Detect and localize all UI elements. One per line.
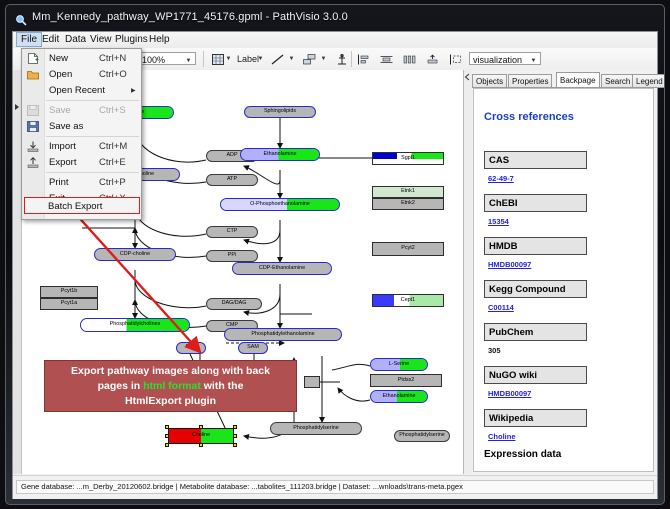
node-label: Phosphatidylcholines bbox=[110, 322, 161, 327]
xref-header-kegg: Kegg Compound bbox=[484, 280, 587, 298]
side-panel: Objects Properties Backpage Search Legen… bbox=[464, 70, 657, 474]
protein-pcyt1b[interactable]: Pcyt1b bbox=[40, 286, 98, 298]
menu-item-label: Import bbox=[49, 141, 76, 152]
node-sam[interactable]: SAM bbox=[238, 342, 268, 354]
node-label: Choline bbox=[192, 433, 210, 438]
node-ethanolamine-bottom[interactable]: Ethanolamine bbox=[370, 390, 428, 403]
line-dropdown-caret[interactable]: ▼ bbox=[288, 56, 295, 62]
shape-dropdown-caret[interactable]: ▼ bbox=[320, 56, 327, 62]
resize-handle-se[interactable] bbox=[233, 443, 237, 447]
node-sphingolipids[interactable]: Sphingolipids bbox=[244, 106, 316, 118]
annotation-callout: Export pathway images along with back pa… bbox=[44, 360, 297, 412]
menu-item-accelerator: Ctrl+E bbox=[99, 157, 126, 168]
xref-header-cas: CAS bbox=[484, 151, 587, 169]
tab-objects[interactable]: Objects bbox=[472, 74, 507, 88]
open-folder-icon bbox=[27, 69, 39, 80]
backpage-title: Cross references bbox=[484, 111, 574, 123]
protein-pcyt2[interactable]: Pcyt2 bbox=[372, 242, 444, 256]
menu-item-save-as[interactable]: Save as bbox=[23, 119, 141, 134]
visualization-value: visualization bbox=[473, 55, 522, 65]
xref-link-cas[interactable]: 62-49-7 bbox=[488, 174, 514, 183]
node-phosphatidylcholines[interactable]: Phosphatidylcholines bbox=[80, 318, 190, 332]
visualization-combo[interactable]: visualization ▼ bbox=[469, 52, 541, 65]
tab-legend[interactable]: Legend bbox=[632, 74, 665, 88]
node-cdp-choline[interactable]: CDP-choline bbox=[94, 248, 176, 261]
label-dropdown-caret[interactable]: ▼ bbox=[257, 56, 264, 62]
xref-header-wikipedia: Wikipedia bbox=[484, 409, 587, 427]
align-left-icon[interactable] bbox=[355, 51, 372, 67]
node-ctp[interactable]: CTP bbox=[206, 226, 258, 238]
menu-item-label: New bbox=[49, 53, 68, 64]
menu-item-print[interactable]: Print Ctrl+P bbox=[23, 175, 141, 190]
menu-item-label: Export bbox=[49, 157, 76, 168]
window-frame: Mm_Kennedy_pathway_WP1771_45176.gpml - P… bbox=[5, 4, 665, 505]
resize-handle-e[interactable] bbox=[233, 434, 237, 438]
tab-search[interactable]: Search bbox=[601, 74, 634, 88]
protein-ptdss2[interactable]: Ptdss2 bbox=[370, 374, 442, 387]
resize-handle-w[interactable] bbox=[165, 434, 169, 438]
menu-item-label: Open bbox=[49, 69, 72, 80]
expression-data-heading: Expression data bbox=[484, 449, 561, 460]
application-window: Mm_Kennedy_pathway_WP1771_45176.gpml - P… bbox=[0, 0, 670, 509]
menu-item-new[interactable]: New Ctrl+N bbox=[23, 51, 141, 66]
anchor-icon[interactable] bbox=[333, 51, 350, 67]
node-dag[interactable]: DAG/DAG bbox=[206, 298, 262, 310]
menu-item-open[interactable]: Open Ctrl+O bbox=[23, 67, 141, 82]
xref-link-nugo[interactable]: HMDB00097 bbox=[488, 389, 531, 398]
resize-handle-n[interactable] bbox=[199, 425, 203, 429]
xref-value-pubchem: 305 bbox=[488, 346, 501, 355]
xref-link-chebi[interactable]: 15354 bbox=[488, 217, 509, 226]
backpage-panel[interactable]: Cross references CAS 62-49-7 ChEBI 15354… bbox=[473, 88, 654, 472]
import-icon bbox=[27, 141, 39, 152]
node-cdp-ethanolamine[interactable]: CDP-Ethanolamine bbox=[232, 262, 332, 275]
menu-item-accelerator: Ctrl+P bbox=[99, 177, 126, 188]
menu-item-accelerator: Ctrl+O bbox=[99, 69, 127, 80]
node-label: Ethanolamine bbox=[264, 152, 297, 157]
toolbar-separator bbox=[351, 51, 352, 67]
menu-help[interactable]: Help bbox=[145, 33, 174, 47]
status-text: Gene database: ...m_Derby_20120602.bridg… bbox=[16, 480, 654, 494]
node-phosphatidylserine-right[interactable]: Phosphatidylserine bbox=[394, 430, 450, 442]
node-ppi[interactable]: PPi bbox=[206, 250, 258, 262]
xref-header-pubchem: PubChem bbox=[484, 323, 587, 341]
menu-item-save: Save Ctrl+S bbox=[23, 103, 141, 118]
menu-item-open-recent[interactable]: Open Recent ▶ bbox=[23, 83, 141, 98]
protein-etnk2[interactable]: Etnk2 bbox=[372, 198, 444, 210]
protein-pcyt1a[interactable]: Pcyt1a bbox=[40, 298, 98, 310]
resize-handle-ne[interactable] bbox=[233, 425, 237, 429]
xref-link-kegg[interactable]: C00114 bbox=[488, 303, 514, 312]
selected-node-group[interactable]: Choline bbox=[168, 428, 234, 444]
zoom-value: 100% bbox=[142, 55, 165, 65]
menu-item-label: Open Recent bbox=[49, 85, 105, 96]
window-title: Mm_Kennedy_pathway_WP1771_45176.gpml - P… bbox=[32, 11, 348, 23]
menu-item-export[interactable]: Export Ctrl+E bbox=[23, 155, 141, 170]
xref-header-hmdb: HMDB bbox=[484, 237, 587, 255]
annotation-highlight: html format bbox=[143, 380, 201, 392]
menu-item-batch-export[interactable]: Batch Export bbox=[48, 201, 102, 212]
menu-item-import[interactable]: Import Ctrl+M bbox=[23, 139, 141, 154]
node-label: O-Phosphoethanolamine bbox=[250, 202, 310, 207]
node-atp[interactable]: ATP bbox=[206, 174, 258, 186]
node-choline-selected[interactable]: Choline bbox=[168, 428, 234, 444]
status-bar: Gene database: ...m_Derby_20120602.bridg… bbox=[13, 475, 657, 499]
menu-bar: File Edit Data View Plugins Help bbox=[13, 32, 657, 49]
annotation-line1: Export pathway images along with back bbox=[71, 365, 270, 377]
save-icon bbox=[27, 105, 39, 116]
stack-icon[interactable] bbox=[424, 51, 441, 67]
file-menu-popup[interactable]: New Ctrl+N Open Ctrl+O Open Recent ▶ Sav… bbox=[21, 48, 142, 220]
menu-item-accelerator: Ctrl+N bbox=[99, 53, 126, 64]
node-ethanolamine-top[interactable]: Ethanolamine bbox=[240, 148, 320, 161]
protein-etnk1[interactable]: Etnk1 bbox=[372, 186, 444, 198]
label-button[interactable]: Label bbox=[237, 54, 259, 64]
protein-sgpl1[interactable]: Sgpl1 bbox=[372, 152, 444, 165]
xref-header-nugo: NuGO wiki bbox=[484, 366, 587, 384]
menu-item-label: Print bbox=[49, 177, 69, 188]
client-area: File Edit Data View Plugins Help Zoom: 1… bbox=[12, 31, 658, 499]
xref-link-wikipedia[interactable]: Choline bbox=[488, 432, 516, 441]
node-label: Cept1 bbox=[401, 298, 415, 303]
menu-separator bbox=[46, 136, 139, 137]
menu-separator bbox=[46, 100, 139, 101]
zoom-combo[interactable]: 100% ▼ bbox=[138, 52, 196, 65]
resize-handle-sw[interactable] bbox=[165, 443, 169, 447]
menu-item-label: Save bbox=[49, 105, 71, 116]
tab-backpage[interactable]: Backpage bbox=[556, 72, 600, 88]
save-as-icon bbox=[27, 121, 39, 132]
annotation-line2-post: with the bbox=[201, 380, 244, 392]
line-icon[interactable] bbox=[269, 51, 286, 67]
annotation-line3: HtmlExport plugin bbox=[125, 395, 216, 407]
grid-icon[interactable] bbox=[209, 51, 226, 67]
resize-handle-nw[interactable] bbox=[165, 425, 169, 429]
title-bar: Mm_Kennedy_pathway_WP1771_45176.gpml - P… bbox=[6, 5, 664, 33]
node-phosphatidylserine[interactable]: Phosphatidylserine bbox=[270, 422, 362, 435]
node-label: L-Serine bbox=[389, 362, 409, 367]
chevron-down-icon: ▼ bbox=[529, 57, 538, 65]
node-sah[interactable]: SAH bbox=[176, 342, 206, 354]
tab-properties[interactable]: Properties bbox=[508, 74, 552, 88]
reaction-anchor-box[interactable] bbox=[304, 376, 320, 388]
pathvisio-icon bbox=[15, 13, 27, 25]
node-phosphatidylethanolamine[interactable]: Phosphatidylethanolamine bbox=[224, 328, 342, 341]
node-l-serine[interactable]: L-Serine bbox=[370, 358, 428, 371]
panel-tab-strip: Objects Properties Backpage Search Legen… bbox=[472, 72, 657, 88]
xref-link-hmdb[interactable]: HMDB00097 bbox=[488, 260, 531, 269]
panel-collapse-grip[interactable] bbox=[464, 70, 472, 474]
shape-icon[interactable] bbox=[301, 51, 318, 67]
toolbar-separator bbox=[203, 51, 204, 67]
menu-edit[interactable]: Edit bbox=[38, 33, 63, 47]
xref-header-chebi: ChEBI bbox=[484, 194, 587, 212]
protein-cept1[interactable]: Cept1 bbox=[372, 294, 444, 307]
distribute-icon[interactable] bbox=[401, 51, 418, 67]
grid-dropdown-caret[interactable]: ▼ bbox=[225, 56, 232, 62]
chevron-down-icon: ▼ bbox=[184, 57, 193, 65]
node-label: Sgpl1 bbox=[401, 156, 415, 161]
menu-item-accelerator: Ctrl+S bbox=[99, 105, 126, 116]
align-center-icon[interactable] bbox=[378, 51, 395, 67]
resize-handle-s[interactable] bbox=[199, 443, 203, 447]
node-o-phosphoethanolamine[interactable]: O-Phosphoethanolamine bbox=[220, 198, 340, 211]
group-icon[interactable] bbox=[447, 51, 464, 67]
export-icon bbox=[27, 157, 39, 168]
menu-separator bbox=[46, 172, 139, 173]
menu-item-accelerator: Ctrl+M bbox=[99, 141, 127, 152]
submenu-arrow-icon: ▶ bbox=[131, 87, 136, 94]
menu-item-label: Save as bbox=[49, 121, 83, 132]
annotation-line2-pre: pages in bbox=[98, 380, 144, 392]
new-file-icon bbox=[27, 53, 39, 64]
node-label: Ethanolamine bbox=[383, 394, 416, 399]
